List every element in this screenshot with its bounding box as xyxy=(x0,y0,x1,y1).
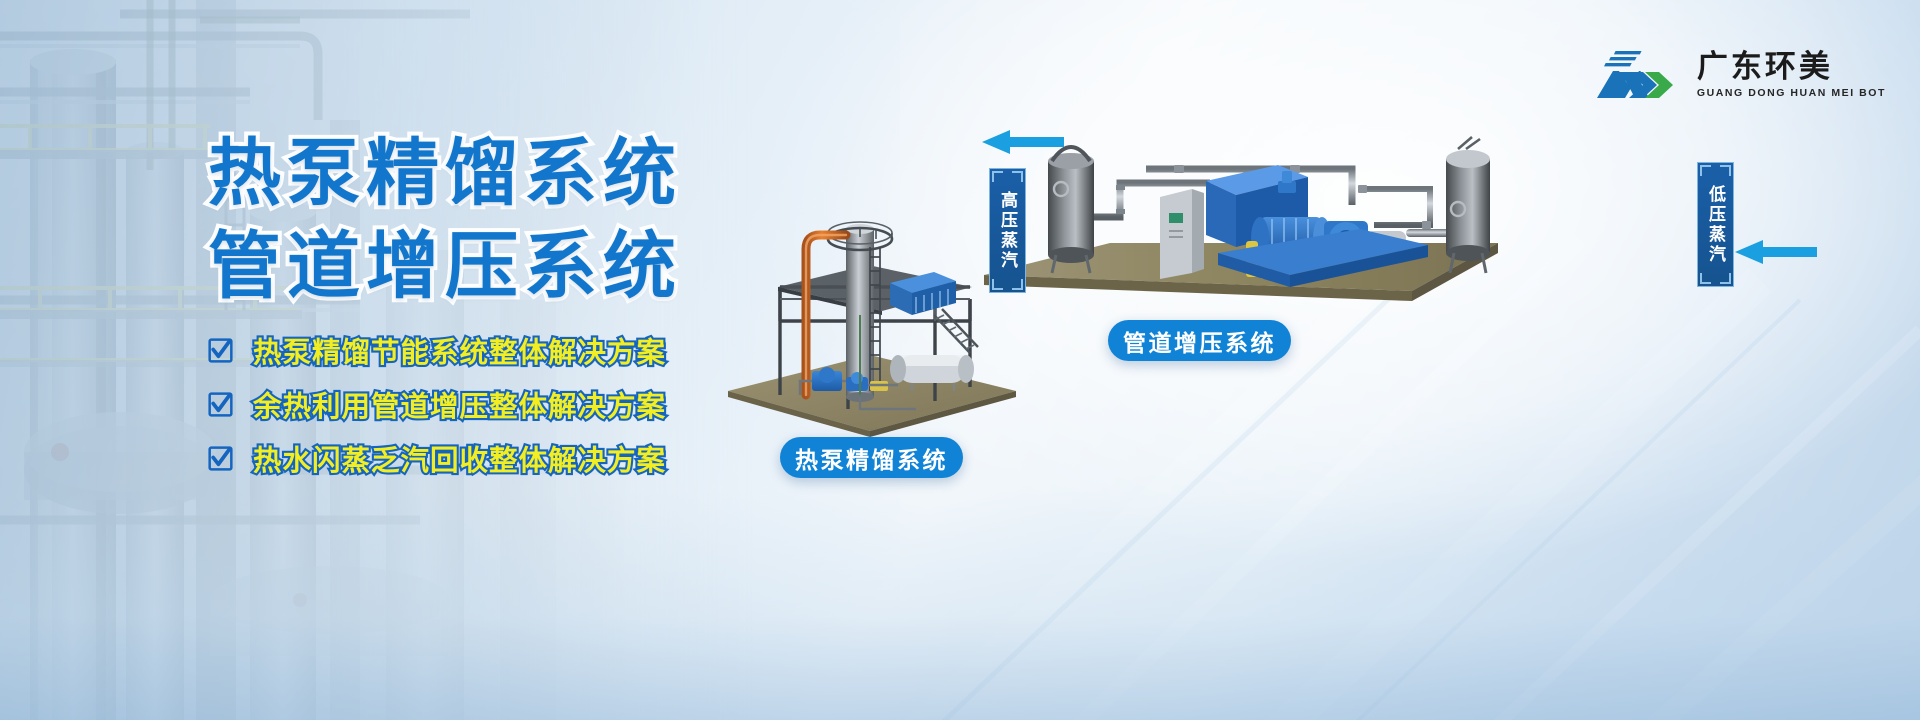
distillation-caption-label: 热泵精馏系统 xyxy=(795,441,948,475)
list-item-label: 余热利用管道增压整体解决方案 xyxy=(253,384,666,425)
list-item-label: 热水闪蒸乏汽回收整体解决方案 xyxy=(253,438,666,479)
booster-caption-pill: 管道增压系统 xyxy=(1108,320,1291,361)
brand-name-en: GUANG DONG HUAN MEI BOT xyxy=(1697,87,1886,99)
arrow-left-icon xyxy=(980,128,1064,156)
checkbox-checked-icon xyxy=(208,392,233,417)
booster-caption-label: 管道增压系统 xyxy=(1123,324,1276,358)
low-pressure-steam-tag: 低压蒸汽 xyxy=(1697,162,1734,287)
distillation-caption-pill: 热泵精馏系统 xyxy=(780,437,963,478)
feature-list: 热泵精馏节能系统整体解决方案 余热利用管道增压整体解决方案 热水闪蒸乏汽回收整体… xyxy=(208,330,666,492)
list-item: 热泵精馏节能系统整体解决方案 xyxy=(208,330,666,370)
hero-banner: 广东环美 GUANG DONG HUAN MEI BOT 热泵精馏系统 管道增压… xyxy=(0,0,1920,720)
list-item: 余热利用管道增压整体解决方案 xyxy=(208,384,666,424)
list-item: 热水闪蒸乏汽回收整体解决方案 xyxy=(208,438,666,478)
brand-name-cn: 广东环美 xyxy=(1697,51,1886,84)
checkbox-checked-icon xyxy=(208,446,233,471)
brand-logo[interactable]: 广东环美 GUANG DONG HUAN MEI BOT xyxy=(1595,48,1886,102)
list-item-label: 热泵精馏节能系统整体解决方案 xyxy=(253,330,666,371)
high-pressure-steam-tag: 高压蒸汽 xyxy=(989,168,1026,293)
arrow-left-icon xyxy=(1733,238,1817,266)
low-pressure-steam-label: 低压蒸汽 xyxy=(1703,185,1728,265)
checkbox-checked-icon xyxy=(208,338,233,363)
chevron-arrows-logo-icon xyxy=(1595,48,1681,102)
high-pressure-steam-label: 高压蒸汽 xyxy=(995,191,1020,271)
